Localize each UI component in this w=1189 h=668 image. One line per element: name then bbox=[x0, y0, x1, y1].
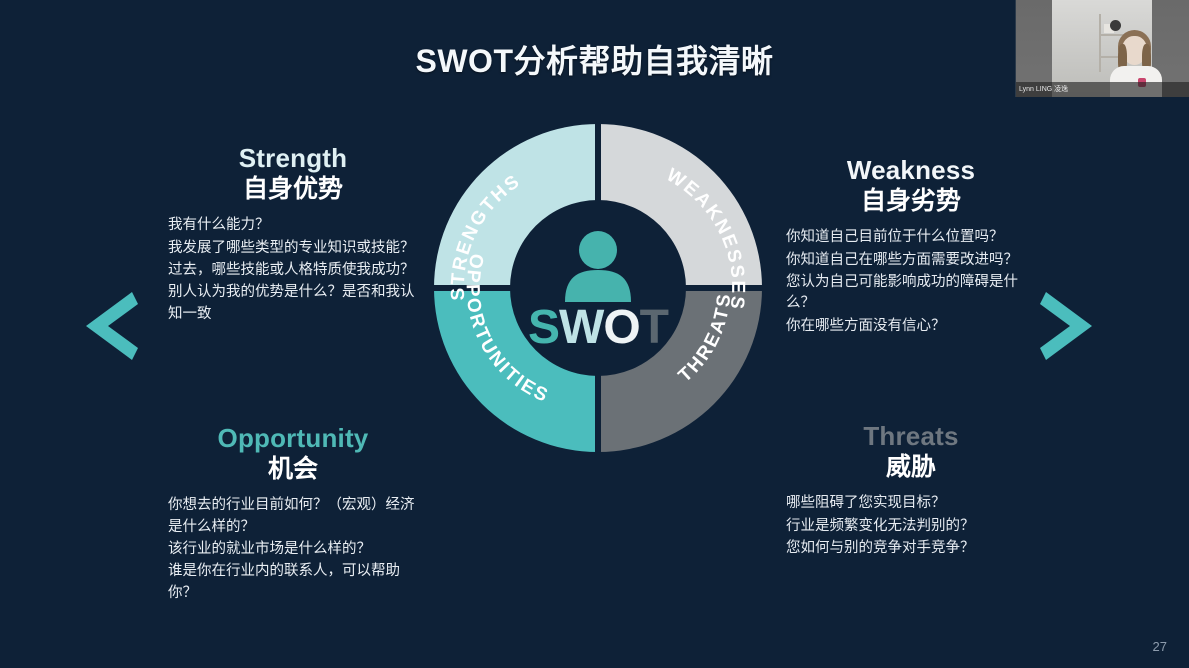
quadrant-opportunity-line: 谁是你在行业内的联系人，可以帮助你？ bbox=[168, 561, 418, 604]
quadrant-opportunity-title-en: Opportunity bbox=[168, 424, 418, 453]
quadrant-weakness-line: 您认为自己可能影响成功的障碍是什么？ bbox=[786, 272, 1036, 315]
shelf-upright bbox=[1099, 14, 1101, 72]
page-title: SWOT分析帮助自我清晰 bbox=[0, 36, 1189, 82]
quadrant-strength-title-zh: 自身优势 bbox=[168, 175, 418, 203]
participant-name-label: Lynn LING 凌逸 bbox=[1016, 82, 1189, 97]
quadrant-weakness: Weakness 自身劣势 你知道自己目前位于什么位置吗？ 你知道自己在哪些方面… bbox=[786, 156, 1036, 338]
quadrant-weakness-line: 你知道自己在哪些方面需要改进吗？ bbox=[786, 250, 1036, 271]
chevron-left-icon[interactable] bbox=[86, 288, 138, 364]
quadrant-opportunity-heading: Opportunity 机会 bbox=[168, 424, 418, 483]
quadrant-threats: Threats 威胁 哪些阻碍了您实现目标？ 行业是频繁变化无法判别的？ 您如何… bbox=[786, 422, 1036, 560]
quadrant-opportunity-line: 该行业的就业市场是什么样的？ bbox=[168, 539, 418, 560]
presentation-slide: SWOT分析帮助自我清晰 Strength 自身优势 我有什么能力？ 我发展了哪… bbox=[0, 0, 1189, 668]
swot-donut-svg: STRENGTHS WEAKNESSES OPPORTUNITIES THREA… bbox=[428, 118, 768, 458]
quadrant-strength-body: 我有什么能力？ 我发展了哪些类型的专业知识或技能？ 过去，哪些技能或人格特质使我… bbox=[168, 215, 418, 325]
quadrant-strength-line: 别人认为我的优势是什么？是否和我认知一致 bbox=[168, 282, 418, 325]
quadrant-weakness-title-en: Weakness bbox=[786, 156, 1036, 185]
quadrant-weakness-body: 你知道自己目前位于什么位置吗？ 你知道自己在哪些方面需要改进吗？ 您认为自己可能… bbox=[786, 227, 1036, 337]
quadrant-threats-title-en: Threats bbox=[786, 422, 1036, 451]
quadrant-weakness-title-zh: 自身劣势 bbox=[786, 187, 1036, 215]
quadrant-threats-line: 行业是频繁变化无法判别的？ bbox=[786, 516, 1036, 537]
quadrant-strength-line: 我发展了哪些类型的专业知识或技能？ bbox=[168, 238, 418, 259]
quadrant-threats-line: 您如何与别的竞争对手竞争？ bbox=[786, 538, 1036, 559]
dark-object bbox=[1110, 20, 1121, 31]
quadrant-strength-heading: Strength 自身优势 bbox=[168, 144, 418, 203]
quadrant-threats-line: 哪些阻碍了您实现目标？ bbox=[786, 493, 1036, 514]
quadrant-weakness-heading: Weakness 自身劣势 bbox=[786, 156, 1036, 215]
quadrant-opportunity-line: 你想去的行业目前如何？（宏观）经济是什么样的？ bbox=[168, 495, 418, 538]
page-number: 27 bbox=[1153, 639, 1167, 654]
quadrant-weakness-line: 你在哪些方面没有信心？ bbox=[786, 316, 1036, 337]
quadrant-strength-line: 我有什么能力？ bbox=[168, 215, 418, 236]
video-participant-tile[interactable]: Lynn LING 凌逸 bbox=[1015, 0, 1189, 97]
quadrant-strength-title-en: Strength bbox=[168, 144, 418, 173]
quadrant-strength: Strength 自身优势 我有什么能力？ 我发展了哪些类型的专业知识或技能？ … bbox=[168, 144, 418, 326]
quadrant-weakness-line: 你知道自己目前位于什么位置吗？ bbox=[786, 227, 1036, 248]
quadrant-threats-title-zh: 威胁 bbox=[786, 453, 1036, 481]
quadrant-threats-heading: Threats 威胁 bbox=[786, 422, 1036, 481]
quadrant-strength-line: 过去，哪些技能或人格特质使我成功？ bbox=[168, 260, 418, 281]
quadrant-threats-body: 哪些阻碍了您实现目标？ 行业是频繁变化无法判别的？ 您如何与别的竞争对手竞争？ bbox=[786, 493, 1036, 559]
quadrant-opportunity: Opportunity 机会 你想去的行业目前如何？（宏观）经济是什么样的？ 该… bbox=[168, 424, 418, 605]
quadrant-opportunity-body: 你想去的行业目前如何？（宏观）经济是什么样的？ 该行业的就业市场是什么样的？ 谁… bbox=[168, 495, 418, 604]
swot-donut-diagram: STRENGTHS WEAKNESSES OPPORTUNITIES THREA… bbox=[428, 118, 768, 458]
chevron-right-icon[interactable] bbox=[1040, 288, 1092, 364]
quadrant-opportunity-title-zh: 机会 bbox=[168, 455, 418, 483]
